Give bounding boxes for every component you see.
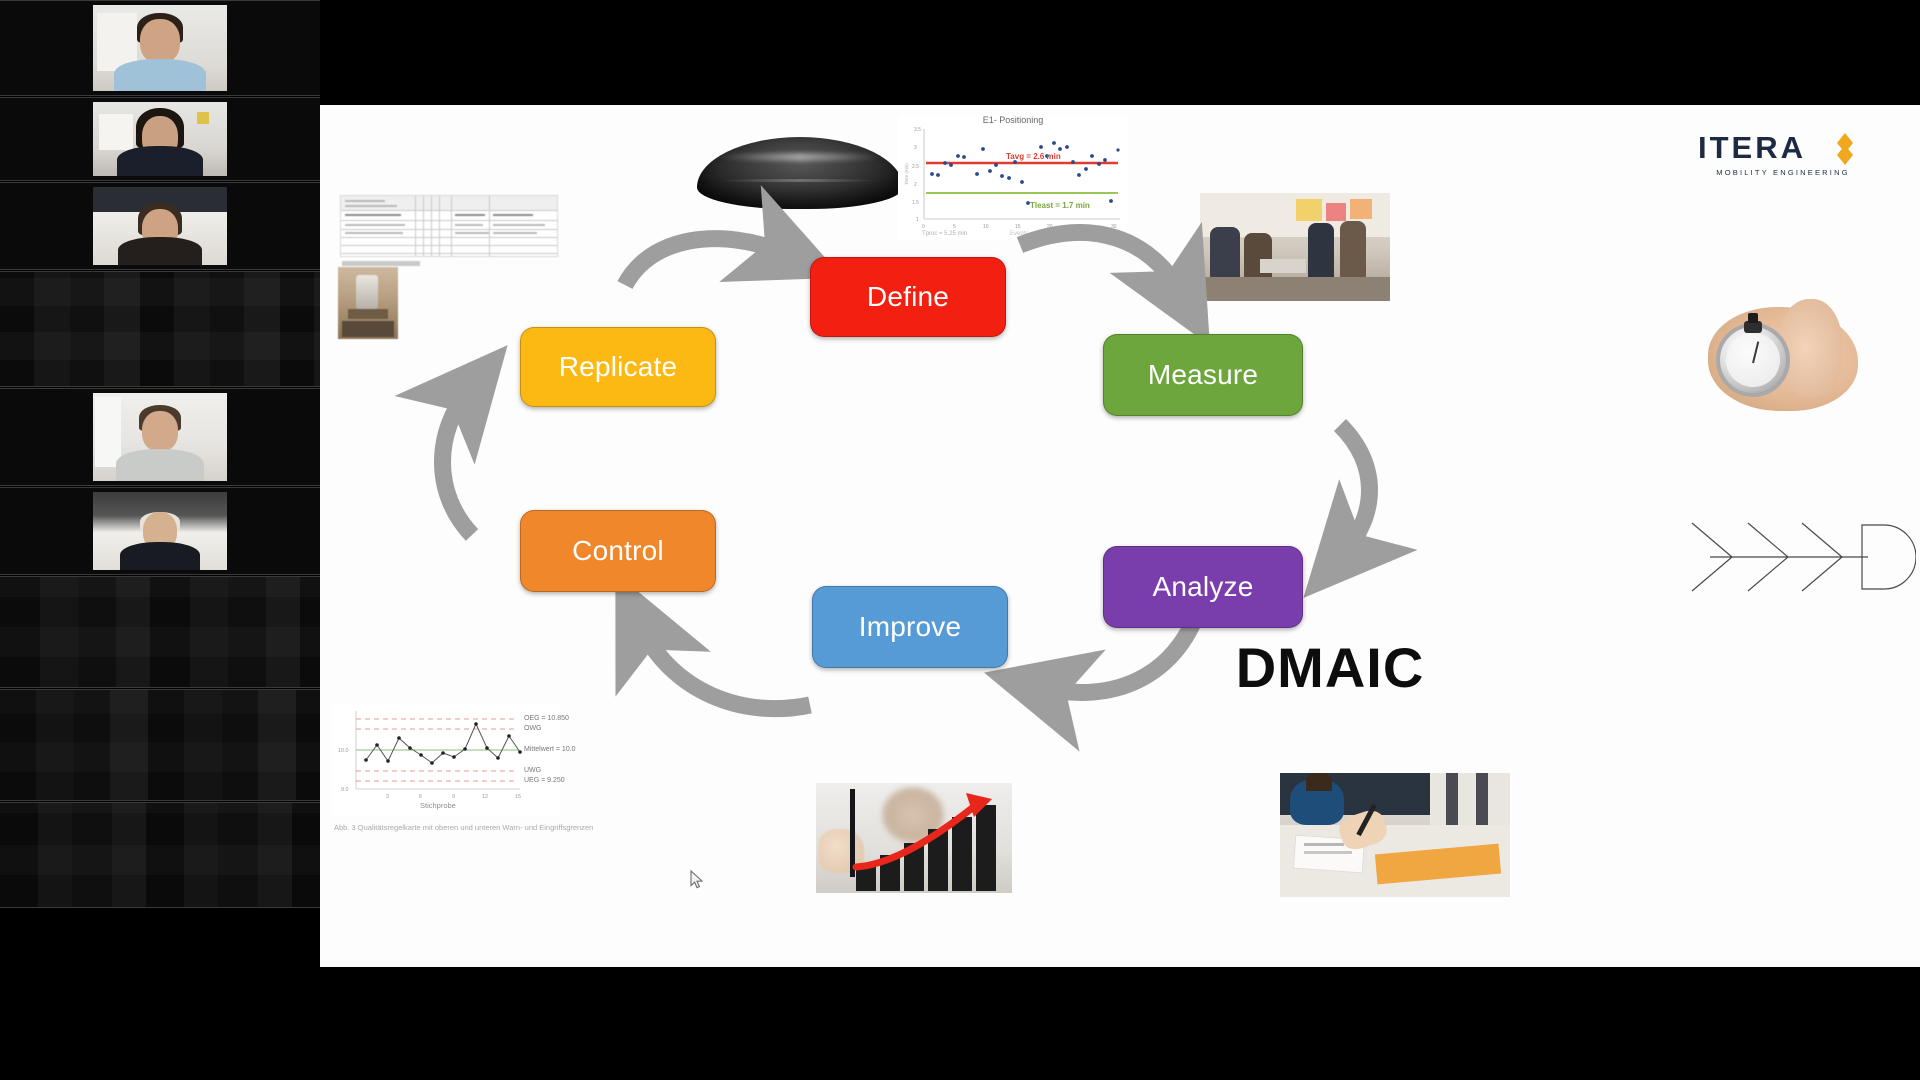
dmaic-node-label: Replicate [559, 351, 678, 383]
e1-positioning-chart: E1- Positioning 3.53 2.52 1.51 05 1015 2… [898, 115, 1128, 241]
dmaic-node-replicate[interactable]: Replicate [520, 327, 716, 407]
svg-text:25: 25 [1079, 224, 1085, 230]
dmaic-node-label: Analyze [1152, 571, 1253, 603]
svg-text:5: 5 [953, 224, 956, 230]
quality-control-chart: 10.09.0 36 912 15 OEG = 10.850 OWG Mitte… [332, 705, 560, 815]
svg-text:30: 30 [1111, 224, 1117, 230]
fixture-photo [338, 267, 398, 339]
dmaic-center-title: DMAIC [1220, 635, 1440, 700]
dmaic-node-label: Define [867, 281, 949, 313]
dmaic-node-label: Measure [1148, 359, 1258, 391]
control-chart-xlabel: Stichprobe [420, 801, 456, 810]
svg-text:15: 15 [1015, 224, 1021, 230]
participant-tile[interactable] [0, 271, 320, 387]
control-limit-label-oeg: OEG = 10.850 [524, 715, 569, 722]
participant-tile[interactable] [0, 388, 320, 486]
svg-text:12: 12 [482, 794, 488, 800]
svg-text:15: 15 [515, 794, 521, 800]
svg-text:2: 2 [914, 182, 917, 188]
svg-text:Time (min): Time (min) [904, 163, 909, 185]
itera-logo: ITERA MOBILITY ENGINEERING [1698, 130, 1868, 188]
logo-accent-icon [1828, 132, 1862, 166]
fishbone-diagram [1672, 497, 1916, 617]
participant-tile[interactable] [0, 689, 320, 801]
participant-tile[interactable] [0, 97, 320, 181]
dmaic-node-control[interactable]: Control [520, 510, 716, 592]
control-limit-label-ueg: UEG = 9.250 [524, 777, 565, 784]
workshop-photo [1200, 193, 1390, 301]
participant-video [93, 492, 227, 570]
participant-video-off [0, 272, 320, 386]
seal-part-photo [695, 123, 905, 223]
logo-tagline: MOBILITY ENGINEERING [1698, 168, 1868, 177]
participant-tile[interactable] [0, 576, 320, 688]
svg-text:3.5: 3.5 [914, 127, 921, 133]
mouse-cursor [690, 870, 704, 890]
chart-title: E1- Positioning [898, 115, 1128, 125]
svg-text:9: 9 [452, 794, 455, 800]
participant-tile[interactable] [0, 182, 320, 270]
participant-tile[interactable] [0, 0, 320, 96]
participant-video [93, 393, 227, 481]
control-limit-label-uwg: UWG [524, 767, 541, 774]
meeting-photo [1280, 773, 1510, 897]
svg-text:3: 3 [386, 794, 389, 800]
control-limit-label-owg: OWG [524, 725, 542, 732]
process-form-footer-label [342, 261, 420, 266]
participant-video [93, 5, 227, 91]
svg-text:1: 1 [916, 217, 919, 223]
chart-annotation-avg: Tavg = 2.6 min [1006, 152, 1061, 161]
svg-text:9.0: 9.0 [341, 787, 349, 793]
control-limit-label-mittelwert: Mittelwert = 10.0 [524, 746, 576, 753]
participant-filmstrip[interactable] [0, 0, 320, 1080]
svg-text:1.5: 1.5 [912, 200, 919, 206]
dmaic-node-label: Control [572, 535, 664, 567]
svg-text:20: 20 [1047, 224, 1053, 230]
control-chart-caption: Abb. 3 Qualitätsregelkarte mit oberen un… [334, 823, 593, 832]
growth-photo [816, 783, 1012, 893]
chart-xlabel: Events [1010, 231, 1028, 237]
chart-annotation-least: Tleast = 1.7 min [1030, 201, 1090, 210]
svg-text:0: 0 [922, 224, 925, 230]
dmaic-node-define[interactable]: Define [810, 257, 1006, 337]
svg-text:3: 3 [914, 145, 917, 151]
dmaic-node-improve[interactable]: Improve [812, 586, 1008, 668]
participant-video [93, 102, 227, 176]
svg-text:10.0: 10.0 [338, 748, 349, 754]
video-conference-screen: E1- Positioning 3.53 2.52 1.51 05 1015 2… [0, 0, 1920, 1080]
dmaic-node-label: Improve [859, 611, 962, 643]
svg-text:10: 10 [983, 224, 989, 230]
dmaic-node-analyze[interactable]: Analyze [1103, 546, 1303, 628]
shared-slide: E1- Positioning 3.53 2.52 1.51 05 1015 2… [320, 105, 1920, 967]
participant-video-off [0, 803, 320, 907]
process-form-document [340, 195, 558, 257]
svg-text:2.5: 2.5 [912, 164, 919, 170]
participant-tile[interactable] [0, 802, 320, 908]
participant-tile[interactable] [0, 487, 320, 575]
dmaic-node-measure[interactable]: Measure [1103, 334, 1303, 416]
chart-footnote: Tproc = 5.25 min [922, 231, 967, 237]
stopwatch-photo [1690, 293, 1920, 423]
participant-video-off [0, 690, 320, 800]
participant-video [93, 187, 227, 265]
participant-video-off [0, 577, 320, 687]
svg-text:6: 6 [419, 794, 422, 800]
